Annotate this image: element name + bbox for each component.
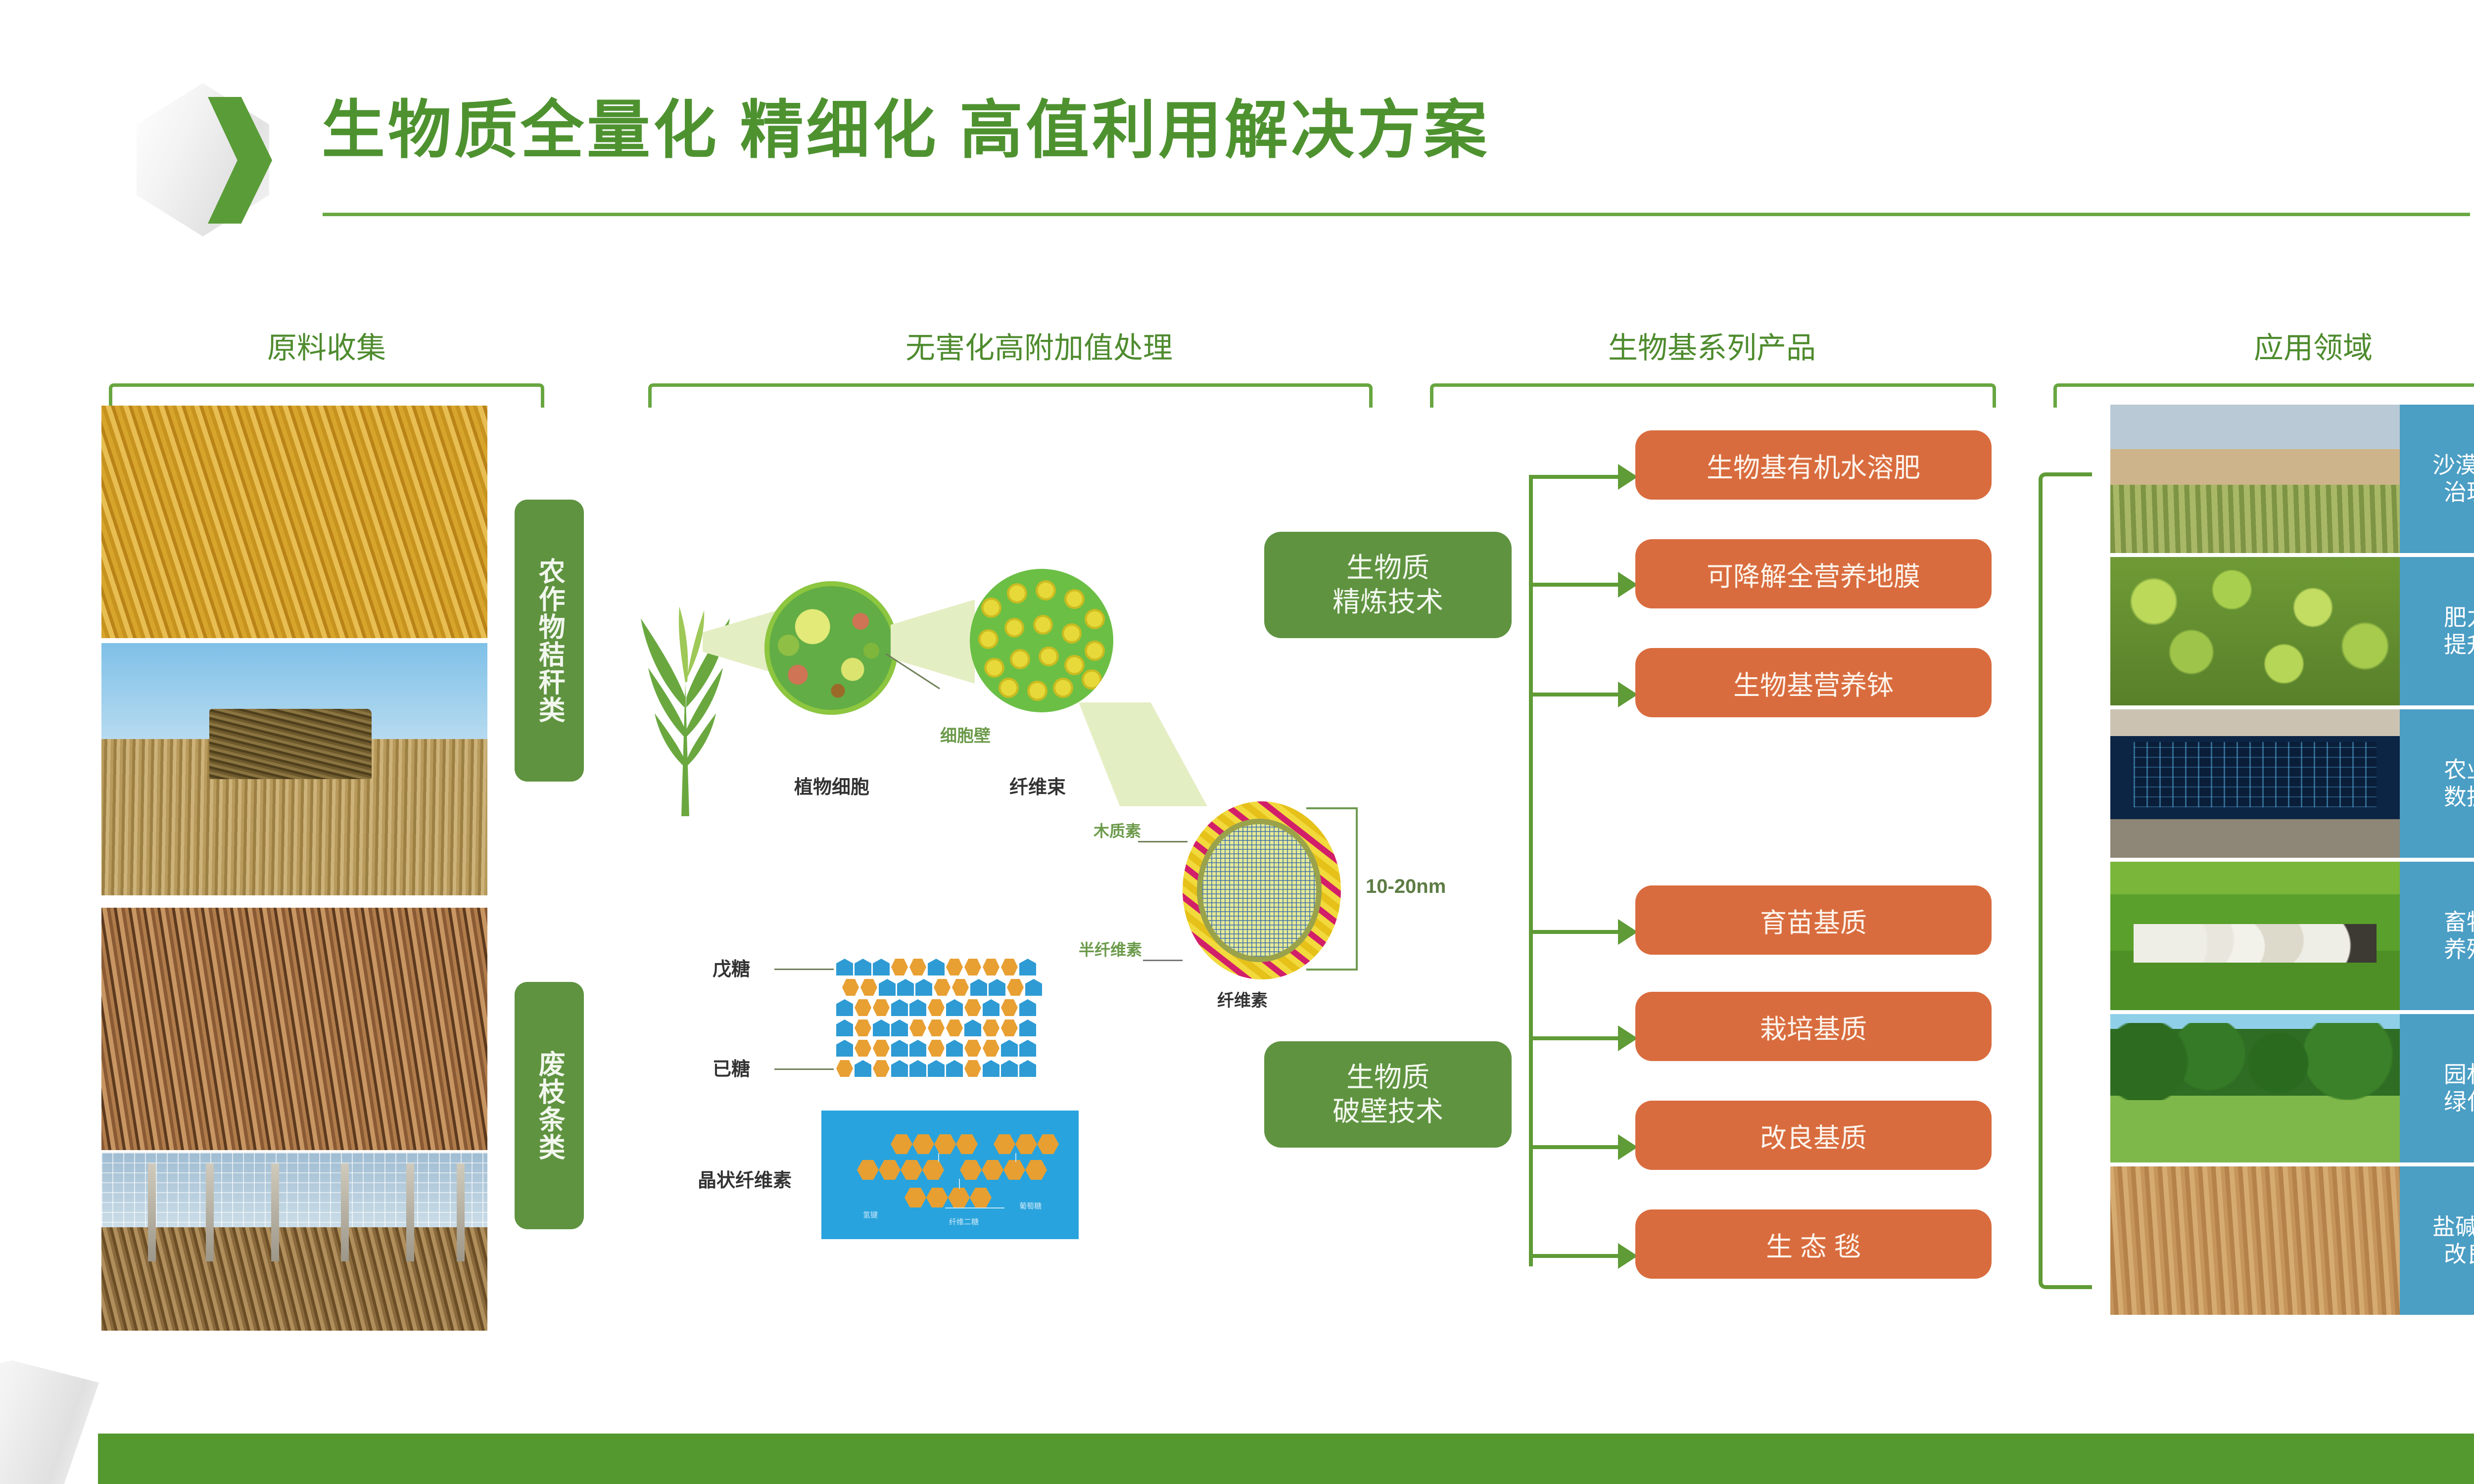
page-title: 生物质全量化 精细化 高值利用解决方案 bbox=[322, 99, 1490, 162]
label-hemicellulose: 半纤维素 bbox=[1079, 937, 1142, 960]
application-tag-livestock: 畜牧 养殖 bbox=[2400, 862, 2474, 1010]
tech-pill-biomass-refining[interactable]: 生物质 精炼技术 bbox=[1264, 532, 1512, 638]
product-pill-bio-organic-water-soluble-fertilizer[interactable]: 生物基有机水溶肥 bbox=[1635, 430, 1992, 500]
raw-category-label-waste-branches: 废枝条类 bbox=[515, 982, 584, 1229]
bracket-processing bbox=[648, 383, 1373, 408]
grass-plant-illustration bbox=[626, 559, 740, 816]
tech-line-2: 精炼技术 bbox=[1332, 585, 1443, 619]
hemicellulose-leader-line bbox=[1143, 960, 1183, 961]
footer-hexagon-shape bbox=[0, 1360, 99, 1484]
arrow-head-w3 bbox=[1618, 1134, 1638, 1160]
section-header-products: 生物基系列产品 bbox=[1608, 324, 1816, 367]
application-row-fertility[interactable]: 肥力 提升 bbox=[2110, 557, 2474, 705]
app-tag-line-1: 农业 bbox=[2444, 756, 2474, 784]
pentose-leader-line bbox=[774, 969, 834, 970]
tech-line-2: 破壁技术 bbox=[1332, 1095, 1443, 1128]
application-tag-desertification: 沙漠化 治理 bbox=[2400, 405, 2474, 553]
section-header-raw-collection: 原料收集 bbox=[267, 324, 386, 367]
arrow-head-r1 bbox=[1618, 464, 1638, 490]
section-header-processing: 无害化高附加值处理 bbox=[905, 324, 1173, 367]
product-pill-ecological-blanket[interactable]: 生 态 毯 bbox=[1635, 1209, 1992, 1279]
hexose-leader-line bbox=[774, 1068, 834, 1070]
label-cell-wall: 细胞壁 bbox=[940, 722, 991, 746]
product-pill-improvement-substrate[interactable]: 改良基质 bbox=[1635, 1101, 1992, 1170]
dimension-tick-bottom bbox=[1306, 969, 1358, 971]
thumb-cabbage-field bbox=[2110, 557, 2400, 705]
zoom-wedge-2 bbox=[891, 600, 975, 684]
label-lignin: 木质素 bbox=[1094, 819, 1141, 841]
label-fiber-dimension: 10-20nm bbox=[1366, 876, 1446, 898]
arrow-head-w4 bbox=[1618, 1243, 1638, 1269]
app-tag-line-1: 沙漠化 bbox=[2432, 452, 2474, 479]
sugar-chain-diagram bbox=[836, 959, 1044, 1080]
label-crystalline-cellulose: 晶状纤维素 bbox=[698, 1165, 792, 1192]
tech-pill-biomass-wall-breaking[interactable]: 生物质 破壁技术 bbox=[1264, 1041, 1512, 1148]
application-row-saline-alkali[interactable]: 盐碱地 改良 bbox=[2110, 1166, 2474, 1315]
application-row-livestock[interactable]: 畜牧 养殖 bbox=[2110, 862, 2474, 1010]
application-row-landscaping[interactable]: 园林 绿化 bbox=[2110, 1014, 2474, 1162]
app-tag-line-2: 改良 bbox=[2432, 1241, 2474, 1268]
label-plant-cell: 植物细胞 bbox=[794, 772, 869, 799]
app-tag-line-2: 养殖 bbox=[2444, 936, 2474, 963]
app-tag-line-2: 治理 bbox=[2432, 479, 2474, 506]
thumb-grazing-sheep bbox=[2110, 862, 2400, 1010]
photo-pruned-branches bbox=[101, 908, 487, 1150]
app-tag-line-1: 肥力 bbox=[2444, 604, 2474, 631]
fiber-bundle-illustration bbox=[970, 569, 1113, 712]
bracket-products bbox=[1430, 383, 1996, 408]
app-tag-line-2: 数据 bbox=[2444, 784, 2474, 811]
photo-straw-bale-field bbox=[101, 643, 487, 895]
label-cellulose: 纤维素 bbox=[1217, 987, 1268, 1011]
application-tag-fertility: 肥力 提升 bbox=[2400, 557, 2474, 705]
product-pill-bio-nutrition-pot[interactable]: 生物基营养钵 bbox=[1635, 648, 1992, 717]
raw-category-label-crop-straw: 农作物秸秆类 bbox=[515, 500, 584, 782]
arrow-head-r2 bbox=[1618, 572, 1638, 598]
app-tag-line-1: 盐碱地 bbox=[2432, 1213, 2474, 1241]
application-tag-saline-alkali: 盐碱地 改良 bbox=[2400, 1166, 2474, 1315]
label-hexose: 已糖 bbox=[713, 1054, 750, 1081]
cellulose-fiber-cross-section bbox=[1183, 801, 1341, 979]
dimension-tick-top bbox=[1306, 807, 1358, 809]
connector-trunk-wallbreaking bbox=[1529, 930, 1533, 1266]
title-divider bbox=[323, 213, 2470, 216]
lignin-leader-line bbox=[1138, 841, 1188, 842]
connector-branch-r3 bbox=[1529, 693, 1623, 696]
arrow-head-r3 bbox=[1618, 682, 1638, 707]
crystalline-cellulose-panel: 氢键 纤维二糖 葡萄糖 bbox=[821, 1111, 1079, 1239]
section-header-applications: 应用领域 bbox=[2254, 324, 2373, 367]
product-pill-cultivation-substrate[interactable]: 栽培基质 bbox=[1635, 992, 1992, 1061]
photo-vineyard-pruning bbox=[101, 1153, 487, 1331]
tech-line-1: 生物质 bbox=[1332, 551, 1443, 585]
application-tag-landscaping: 园林 绿化 bbox=[2400, 1014, 2474, 1162]
arrow-head-w2 bbox=[1618, 1025, 1638, 1051]
plant-cell-illustration bbox=[764, 581, 898, 715]
label-pentose: 戊糖 bbox=[713, 954, 750, 981]
app-tag-line-2: 绿化 bbox=[2444, 1088, 2474, 1115]
bracket-applications bbox=[2053, 383, 2474, 408]
app-tag-line-2: 提升 bbox=[2444, 631, 2474, 658]
connector-branch-r2 bbox=[1529, 583, 1623, 587]
bracket-to-applications bbox=[2039, 472, 2092, 1289]
connector-branch-w2 bbox=[1529, 1036, 1623, 1040]
footer-green-bar bbox=[98, 1434, 2474, 1484]
application-tag-agri-data: 农业 数据 bbox=[2400, 709, 2474, 858]
bracket-raw-collection bbox=[109, 383, 544, 408]
tech-line-1: 生物质 bbox=[1332, 1061, 1443, 1094]
thumb-desert-control bbox=[2110, 405, 2400, 553]
thumb-park-greening bbox=[2110, 1014, 2400, 1162]
dimension-bar-vertical bbox=[1356, 807, 1358, 971]
product-pill-degradable-nutrient-mulch-film[interactable]: 可降解全营养地膜 bbox=[1635, 539, 1992, 608]
photo-corn-straw-field bbox=[101, 406, 487, 638]
app-tag-line-1: 园林 bbox=[2444, 1061, 2474, 1088]
connector-branch-w4 bbox=[1529, 1254, 1623, 1258]
connector-branch-w1 bbox=[1529, 930, 1623, 934]
app-tag-line-1: 畜牧 bbox=[2444, 909, 2474, 936]
connector-branch-w3 bbox=[1529, 1145, 1623, 1149]
label-fiber-bundle: 纤维束 bbox=[1009, 772, 1066, 799]
connector-branch-r1 bbox=[1529, 475, 1623, 479]
product-pill-seedling-substrate[interactable]: 育苗基质 bbox=[1635, 885, 1992, 955]
arrow-head-w1 bbox=[1618, 919, 1638, 945]
zoom-wedge-3 bbox=[1079, 702, 1207, 806]
application-row-desertification[interactable]: 沙漠化 治理 bbox=[2110, 405, 2474, 553]
thumb-data-center bbox=[2110, 709, 2400, 858]
thumb-saline-alkali-land bbox=[2110, 1166, 2400, 1315]
application-row-agri-data[interactable]: 农业 数据 bbox=[2110, 709, 2474, 858]
